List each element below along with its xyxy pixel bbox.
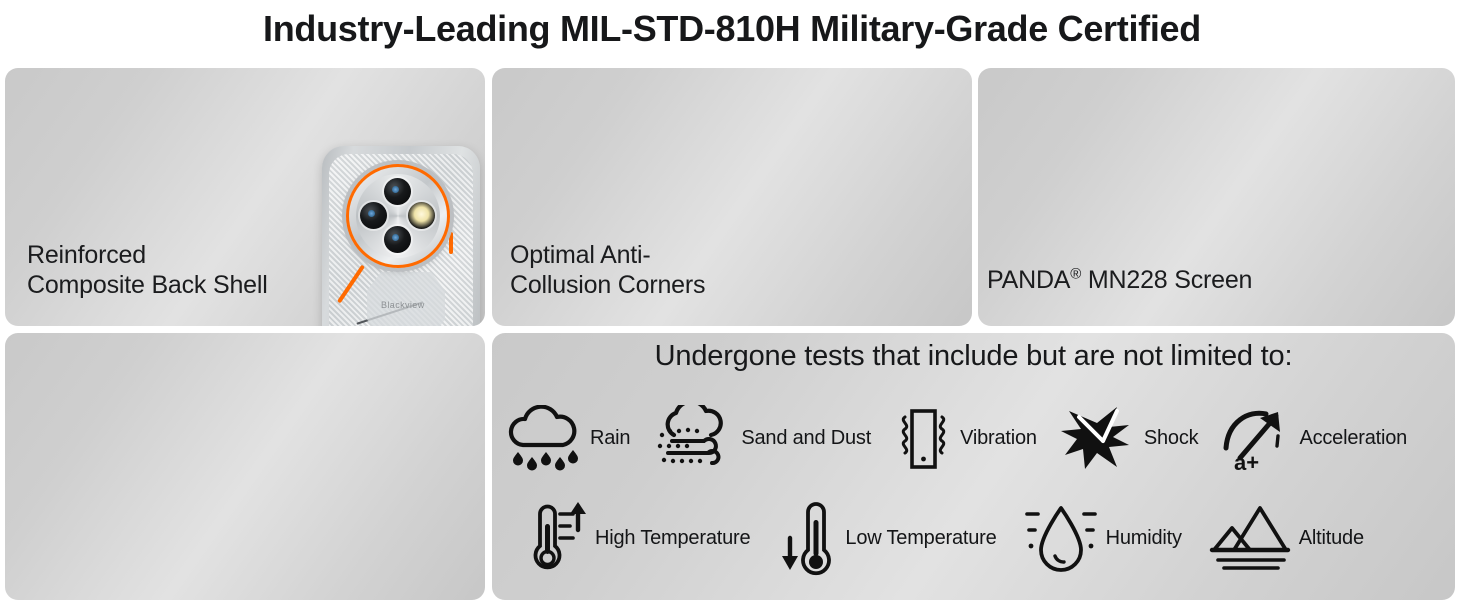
test-label-sand-and-dust: Sand and Dust [741,427,871,450]
test-item-sand-and-dust: Sand and Dust [652,405,871,471]
test-label-altitude: Altitude [1299,527,1364,550]
screen-label-line1: PANDA® MN228 Screen [987,266,1252,294]
test-item-humidity: Humidity [1023,500,1182,576]
test-item-altitude: Altitude [1208,502,1364,574]
orange-accent-trace [337,265,365,304]
card-reinforced-back-shell: Reinforced Composite Back Shell Blackvie… [5,68,485,326]
camera-flash [408,202,435,229]
test-label-acceleration: Acceleration [1299,427,1407,450]
camera-lens [360,202,387,229]
registered-mark: ® [1070,266,1081,283]
infographic-page: Industry-Leading MIL-STD-810H Military-G… [0,0,1464,600]
sand-dust-icon [652,405,734,471]
acceleration-label-glyph: a+ [1234,450,1259,474]
test-item-shock: Shock [1059,403,1199,473]
tests-icon-grid: Rain [500,388,1450,588]
card-panda-screen: PANDA® MN228 Screen ↑5 Times Scratch & D… [978,68,1455,326]
octagon-texture-panel [367,272,445,326]
test-label-rain: Rain [590,427,630,450]
brand-logo: Blackview [381,300,425,310]
altitude-mountain-icon [1208,502,1292,574]
card-aluminum-buttons: Aluminum Buttons [5,333,485,600]
high-temperature-icon [518,500,588,576]
test-label-high-temperature: High Temperature [595,527,750,550]
test-item-high-temperature: High Temperature [518,500,750,576]
tests-title: Undergone tests that include but are not… [492,340,1455,373]
rain-cloud-icon [505,405,583,471]
test-item-low-temperature: Low Temperature [776,498,996,578]
tests-row-2: High Temperature Low Temperature [500,488,1450,588]
test-item-acceleration: a+ Acceleration [1220,402,1407,474]
orange-accent-trace [449,232,453,254]
test-label-low-temperature: Low Temperature [845,527,996,550]
test-label-humidity: Humidity [1106,527,1182,550]
phone-back-shell-image: Blackview [322,146,480,326]
acceleration-icon: a+ [1220,402,1292,474]
camera-lens [384,226,411,253]
vibration-icon [893,403,953,473]
tests-row-1: Rain [500,388,1450,488]
test-label-shock: Shock [1144,427,1199,450]
humidity-drop-icon [1023,500,1099,576]
card-label-back-shell: Reinforced Composite Back Shell [27,240,268,300]
low-temperature-icon [776,498,838,578]
camera-lens [384,178,411,205]
test-label-vibration: Vibration [960,427,1037,450]
page-title: Industry-Leading MIL-STD-810H Military-G… [0,8,1464,50]
test-item-vibration: Vibration [893,403,1037,473]
card-label-screen: PANDA® MN228 Screen ↑5 Times Scratch & D… [987,230,1252,326]
test-item-rain: Rain [505,405,630,471]
card-label-corners: Optimal Anti- Collusion Corners [510,240,705,300]
card-anti-collusion-corners: Optimal Anti- Collusion Corners [492,68,972,326]
shock-burst-icon [1059,403,1137,473]
